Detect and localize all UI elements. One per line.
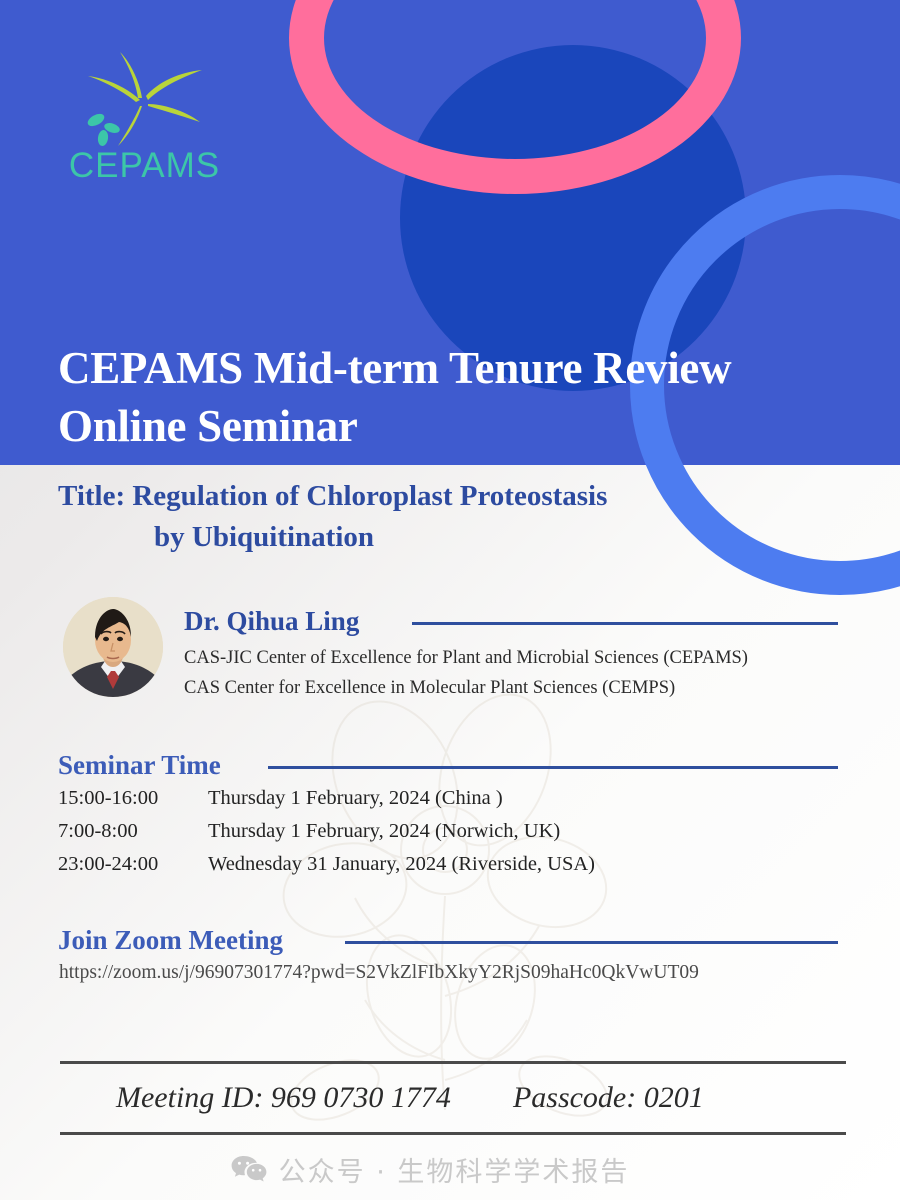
seminar-date-value: Wednesday 31 January, 2024 (Riverside, U… [208, 853, 595, 876]
seminar-time-value: 7:00-8:00 [58, 820, 138, 843]
join-zoom-rule [345, 941, 838, 944]
header-band: CEPAMS CEPAMS Mid-term Tenure Review Onl… [0, 0, 900, 465]
footer-account-text: 公众号 · 生物科学学术报告 [279, 1150, 630, 1189]
page-title: CEPAMS Mid-term Tenure Review Online Sem… [58, 340, 838, 455]
speaker-affiliation-2: CAS Center for Excellence in Molecular P… [184, 678, 675, 699]
join-zoom-heading: Join Zoom Meeting [58, 925, 283, 956]
speaker-portrait-image [63, 597, 163, 697]
speaker-name: Dr. Qihua Ling [184, 606, 359, 637]
speaker-affiliation-1: CAS-JIC Center of Excellence for Plant a… [184, 648, 748, 669]
wechat-icon [231, 1155, 267, 1185]
seminar-time-value: 15:00-16:00 [58, 787, 158, 810]
talk-title-line-2: by Ubiquitination [58, 517, 818, 558]
main-title-line-2: Online Seminar [58, 401, 358, 451]
logo-wordmark: CEPAMS [62, 146, 227, 186]
seminar-time-rule [268, 766, 838, 769]
meeting-id-text: Meeting ID: 969 0730 1774 [116, 1081, 451, 1115]
seminar-date-value: Thursday 1 February, 2024 (Norwich, UK) [208, 820, 560, 843]
speaker-name-rule [412, 622, 838, 625]
zoom-meeting-link[interactable]: https://zoom.us/j/96907301774?pwd=S2VkZl… [59, 962, 699, 984]
main-title-line-1: CEPAMS Mid-term Tenure Review [58, 343, 731, 393]
speaker-avatar [63, 597, 163, 697]
talk-title-line-1: Title: Regulation of Chloroplast Proteos… [58, 480, 607, 512]
cepams-leaf-icon [62, 48, 227, 153]
talk-title: Title: Regulation of Chloroplast Proteos… [58, 476, 818, 558]
meeting-credentials-bar: Meeting ID: 969 0730 1774 Passcode: 0201 [60, 1061, 846, 1135]
seminar-date-value: Thursday 1 February, 2024 (China ) [208, 787, 503, 810]
seminar-poster: CEPAMS CEPAMS Mid-term Tenure Review Onl… [0, 0, 900, 1200]
passcode-text: Passcode: 0201 [513, 1081, 704, 1115]
footer: 公众号 · 生物科学学术报告 [0, 1150, 900, 1189]
seminar-time-value: 23:00-24:00 [58, 853, 158, 876]
seminar-time-heading: Seminar Time [58, 750, 221, 781]
cepams-logo: CEPAMS [62, 48, 227, 188]
